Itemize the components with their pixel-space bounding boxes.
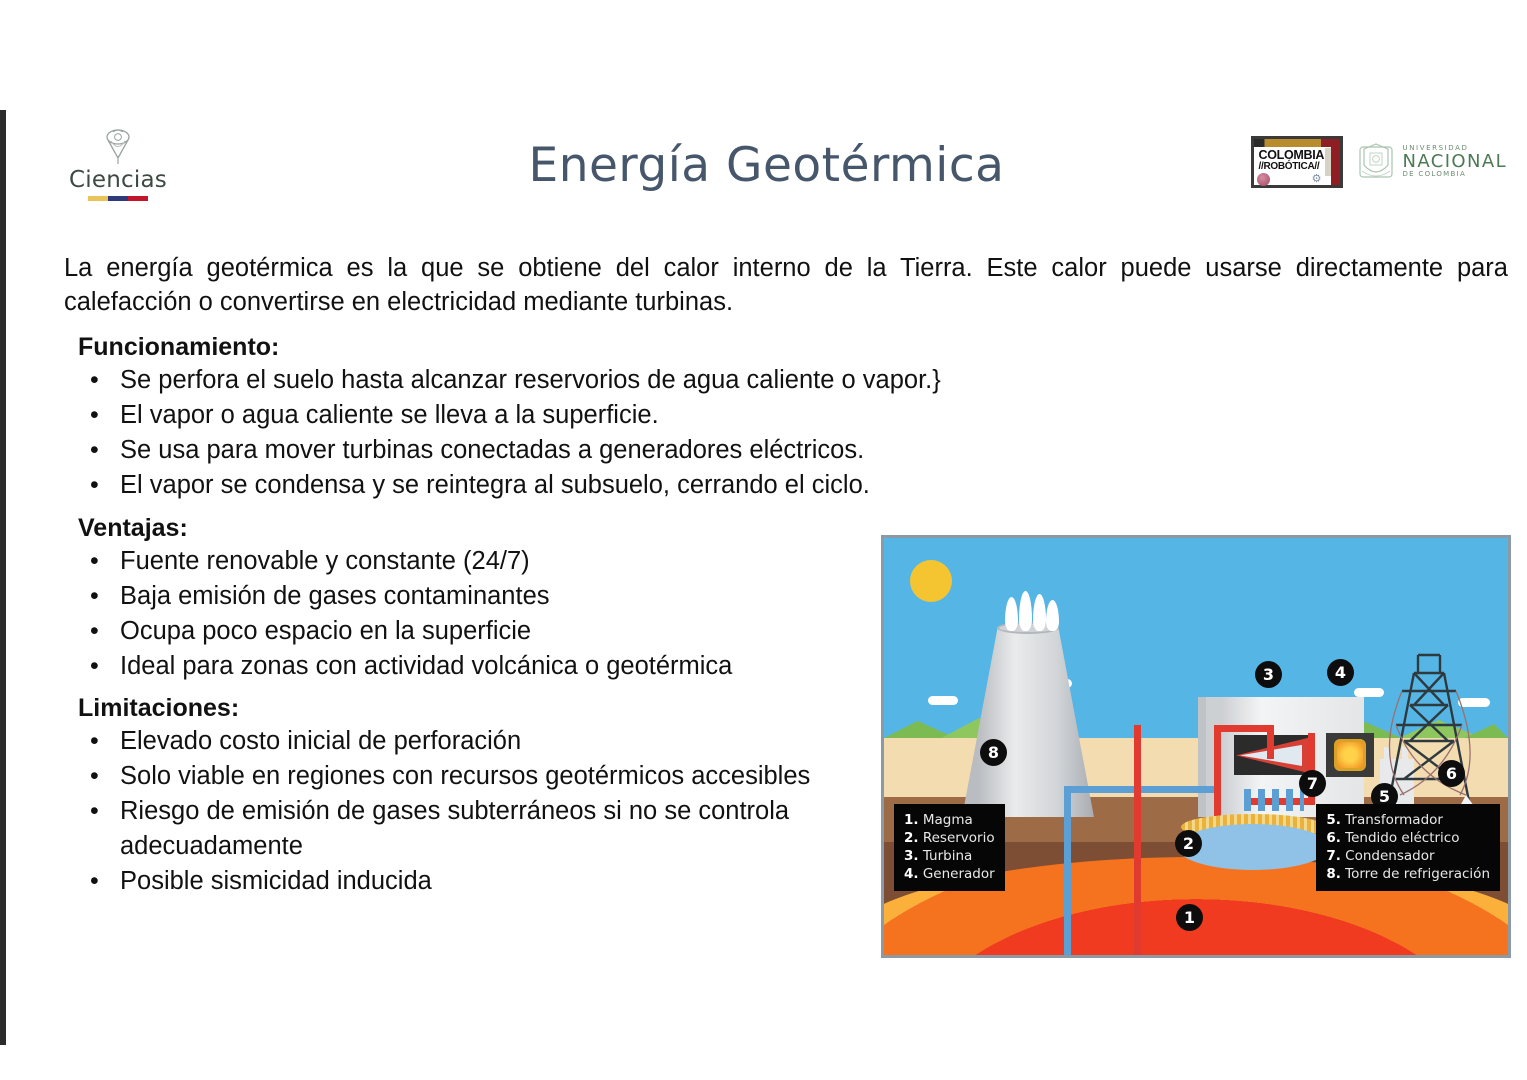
legend-number: 7. xyxy=(1326,848,1341,864)
legend-label: Turbina xyxy=(923,848,972,864)
legend-number: 6. xyxy=(1326,830,1341,846)
cr-line1: COLOMBIA xyxy=(1258,149,1324,162)
legend-label: Reservorio xyxy=(923,830,995,846)
legend-label: Condensador xyxy=(1345,848,1434,864)
slide: Ciencias Energía Geotérmica COLOMBIA //R… xyxy=(0,110,1527,1045)
condenser-coil xyxy=(1244,789,1304,811)
bullet-icon: • xyxy=(90,398,99,432)
gear-icon: ⚙ xyxy=(1312,172,1322,185)
section-heading: Ventajas: xyxy=(78,513,898,544)
bullet-icon: • xyxy=(90,544,99,578)
diagram-legend-left: 1. Magma 2. Reservorio 3. Turbina 4. Gen… xyxy=(894,804,1005,891)
list-item: •El vapor o agua caliente se lleva a la … xyxy=(78,398,1078,433)
callout-1: 1 xyxy=(1176,904,1203,931)
list-item: •Elevado costo inicial de perforación xyxy=(78,724,838,759)
bullet-icon: • xyxy=(90,759,99,793)
callout-6: 6 xyxy=(1438,760,1465,787)
legend-item: 5. Transformador xyxy=(1326,811,1490,829)
unal-crest-icon xyxy=(1357,141,1395,183)
cold-water-downpipe xyxy=(1064,793,1071,955)
partner-logos: COLOMBIA //ROBÓTICA// ⚙ UNIVERSIDAD NACI… xyxy=(1251,136,1507,188)
list-item-label: Fuente renovable y constante (24/7) xyxy=(120,547,530,575)
list-item: •Posible sismicidad inducida xyxy=(78,864,838,899)
cr-line2: //ROBÓTICA// xyxy=(1258,162,1324,172)
unal-line2: NACIONAL xyxy=(1402,153,1507,172)
list-item-label: Posible sismicidad inducida xyxy=(120,867,432,895)
list-item-label: Riesgo de emisión de gases subterráneos … xyxy=(120,797,789,860)
legend-label: Torre de refrigeración xyxy=(1345,866,1490,882)
list-item: •Riesgo de emisión de gases subterráneos… xyxy=(78,794,838,864)
legend-item: 2. Reservorio xyxy=(904,829,995,847)
legend-label: Generador xyxy=(923,866,995,882)
list-item: •Se usa para mover turbinas conectadas a… xyxy=(78,433,1078,468)
legend-item: 6. Tendido eléctrico xyxy=(1326,829,1490,847)
bullet-icon: • xyxy=(90,579,99,613)
bullet-icon: • xyxy=(90,724,99,758)
hot-steam-pipe xyxy=(1214,725,1274,732)
diagram-legend-right: 5. Transformador 6. Tendido eléctrico 7.… xyxy=(1316,804,1500,891)
section-bullet-list: •Se perfora el suelo hasta alcanzar rese… xyxy=(78,363,1078,503)
legend-label: Tendido eléctrico xyxy=(1345,830,1459,846)
bullet-icon: • xyxy=(90,794,99,828)
cr-rightbar xyxy=(1331,139,1340,185)
list-item: •Ideal para zonas con actividad volcánic… xyxy=(78,649,898,684)
bullet-icon: • xyxy=(90,649,99,683)
list-item-label: Se usa para mover turbinas conectadas a … xyxy=(120,436,864,464)
legend-label: Magma xyxy=(923,812,973,828)
bullet-icon: • xyxy=(90,433,99,467)
intro-paragraph: La energía geotérmica es la que se obtie… xyxy=(64,252,1508,320)
section-limitaciones: Limitaciones: •Elevado costo inicial de … xyxy=(78,693,838,899)
bullet-icon: • xyxy=(90,468,99,502)
legend-item: 4. Generador xyxy=(904,865,995,883)
section-heading: Funcionamiento: xyxy=(78,332,1078,363)
cr-text: COLOMBIA //ROBÓTICA// xyxy=(1258,149,1324,172)
callout-8: 8 xyxy=(980,739,1007,766)
callout-4: 4 xyxy=(1327,659,1354,686)
callout-2: 2 xyxy=(1175,830,1202,857)
sun-icon xyxy=(910,560,952,602)
bullet-icon: • xyxy=(90,363,99,397)
cr-rightbar-inner xyxy=(1325,148,1331,176)
callout-3: 3 xyxy=(1255,661,1282,688)
unal-wordmark: UNIVERSIDAD NACIONAL DE COLOMBIA xyxy=(1402,145,1507,179)
list-item-label: Se perfora el suelo hasta alcanzar reser… xyxy=(120,366,941,394)
production-well xyxy=(1134,725,1141,955)
bullet-icon: • xyxy=(90,614,99,648)
colombia-tricolor-bar xyxy=(88,196,148,201)
list-item-label: Ideal para zonas con actividad volcánica… xyxy=(120,652,732,680)
list-item-label: Ocupa poco espacio en la superficie xyxy=(120,617,531,645)
section-heading: Limitaciones: xyxy=(78,693,838,724)
list-item: •Ocupa poco espacio en la superficie xyxy=(78,614,898,649)
list-item: •Solo viable en regiones con recursos ge… xyxy=(78,759,838,794)
list-item-label: Solo viable en regiones con recursos geo… xyxy=(120,762,810,790)
list-item: •Fuente renovable y constante (24/7) xyxy=(78,544,898,579)
unal-line3: DE COLOMBIA xyxy=(1402,171,1507,178)
unal-logo: UNIVERSIDAD NACIONAL DE COLOMBIA xyxy=(1357,141,1507,183)
section-bullet-list: •Elevado costo inicial de perforación •S… xyxy=(78,724,838,899)
legend-item: 8. Torre de refrigeración xyxy=(1326,865,1490,883)
hot-steam-pipe xyxy=(1214,725,1221,817)
legend-number: 8. xyxy=(1326,866,1341,882)
generator-coil xyxy=(1334,739,1366,771)
bullet-icon: • xyxy=(90,864,99,898)
legend-item: 1. Magma xyxy=(904,811,995,829)
callout-7: 7 xyxy=(1299,770,1326,797)
list-item: •Se perfora el suelo hasta alcanzar rese… xyxy=(78,363,1078,398)
hot-steam-pipe xyxy=(1267,725,1274,759)
section-funcionamiento: Funcionamiento: •Se perfora el suelo has… xyxy=(78,332,1078,503)
geothermal-plant-diagram: 1 2 3 4 5 6 7 8 1. Magma 2. Reservorio 3… xyxy=(881,535,1511,958)
legend-item: 3. Turbina xyxy=(904,847,995,865)
list-item-label: El vapor o agua caliente se lleva a la s… xyxy=(120,401,659,429)
list-item-label: Elevado costo inicial de perforación xyxy=(120,727,521,755)
list-item-label: Baja emisión de gases contaminantes xyxy=(120,582,550,610)
legend-item: 7. Condensador xyxy=(1326,847,1490,865)
section-ventajas: Ventajas: •Fuente renovable y constante … xyxy=(78,513,898,684)
legend-number: 1. xyxy=(904,812,919,828)
colombia-robotica-logo: COLOMBIA //ROBÓTICA// ⚙ xyxy=(1251,136,1343,188)
list-item: •Baja emisión de gases contaminantes xyxy=(78,579,898,614)
legend-number: 5. xyxy=(1326,812,1341,828)
legend-number: 2. xyxy=(904,830,919,846)
cloud-icon xyxy=(928,696,958,705)
slide-header: Ciencias Energía Geotérmica COLOMBIA //R… xyxy=(6,110,1527,210)
legend-number: 4. xyxy=(904,866,919,882)
legend-number: 3. xyxy=(904,848,919,864)
legend-label: Transformador xyxy=(1345,812,1443,828)
section-bullet-list: •Fuente renovable y constante (24/7) •Ba… xyxy=(78,544,898,684)
list-item-label: El vapor se condensa y se reintegra al s… xyxy=(120,471,870,499)
list-item: •El vapor se condensa y se reintegra al … xyxy=(78,468,1078,503)
cr-topbar xyxy=(1254,139,1340,147)
